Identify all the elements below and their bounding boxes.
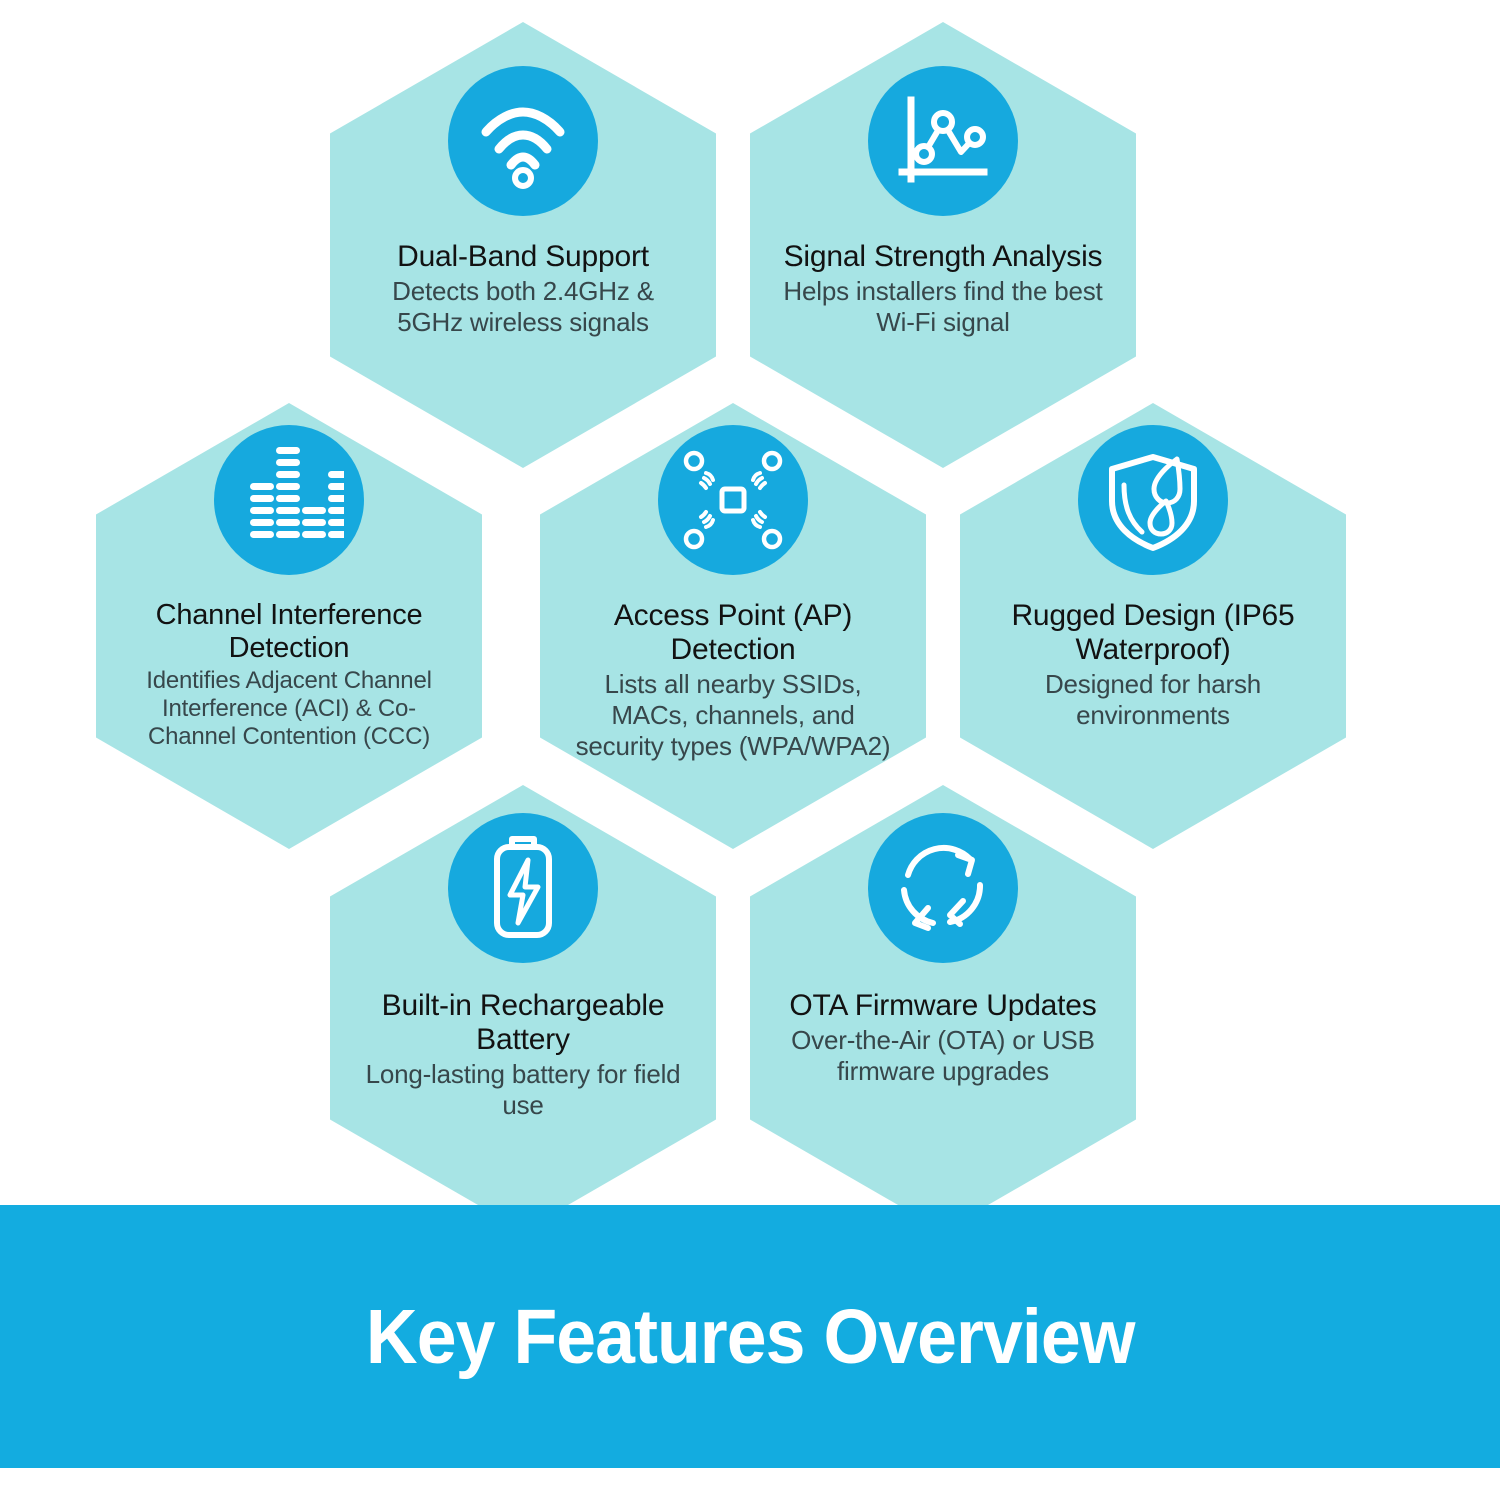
feature-description: Lists all nearby SSIDs, MACs, channels, … xyxy=(573,669,893,762)
wifi-icon xyxy=(448,66,598,216)
access-point-icon xyxy=(658,425,808,575)
feature-hexagon-rugged-design[interactable]: Rugged Design (IP65 Waterproof) Designed… xyxy=(960,403,1346,849)
feature-title: Built-in Rechargeable Battery xyxy=(358,989,688,1057)
feature-hexagon-access-point-detection[interactable]: Access Point (AP) Detection Lists all ne… xyxy=(540,403,926,849)
hexagon-grid: Dual-Band Support Detects both 2.4GHz & … xyxy=(0,0,1500,1205)
feature-hexagon-dual-band-support[interactable]: Dual-Band Support Detects both 2.4GHz & … xyxy=(330,22,716,468)
feature-hexagon-signal-strength-analysis[interactable]: Signal Strength Analysis Helps installer… xyxy=(750,22,1136,468)
line-chart-icon xyxy=(868,66,1018,216)
key-features-infographic: Dual-Band Support Detects both 2.4GHz & … xyxy=(0,0,1500,1500)
feature-description: Designed for harsh environments xyxy=(993,669,1313,731)
equalizer-icon xyxy=(214,425,364,575)
feature-description: Identifies Adjacent Channel Interference… xyxy=(129,667,449,751)
feature-description: Detects both 2.4GHz & 5GHz wireless sign… xyxy=(363,276,683,338)
banner-title: Key Features Overview xyxy=(366,1295,1135,1379)
feature-title: Rugged Design (IP65 Waterproof) xyxy=(988,599,1318,667)
feature-title: Dual-Band Support xyxy=(397,240,649,274)
feature-title: Signal Strength Analysis xyxy=(784,240,1103,274)
feature-hexagon-rechargeable-battery[interactable]: Built-in Rechargeable Battery Long-lasti… xyxy=(330,785,716,1231)
shield-droplet-icon xyxy=(1078,425,1228,575)
feature-title: OTA Firmware Updates xyxy=(789,989,1096,1023)
feature-title: Channel Interference Detection xyxy=(124,599,454,665)
feature-description: Long-lasting battery for field use xyxy=(363,1059,683,1121)
feature-hexagon-ota-firmware-updates[interactable]: OTA Firmware Updates Over-the-Air (OTA) … xyxy=(750,785,1136,1231)
feature-hexagon-channel-interference-detection[interactable]: Channel Interference Detection Identifie… xyxy=(96,403,482,849)
footer-banner: Key Features Overview xyxy=(0,1205,1500,1468)
feature-description: Helps installers find the best Wi-Fi sig… xyxy=(783,276,1103,338)
feature-title: Access Point (AP) Detection xyxy=(568,599,898,667)
refresh-cycle-icon xyxy=(868,813,1018,963)
feature-description: Over-the-Air (OTA) or USB firmware upgra… xyxy=(783,1025,1103,1087)
battery-bolt-icon xyxy=(448,813,598,963)
